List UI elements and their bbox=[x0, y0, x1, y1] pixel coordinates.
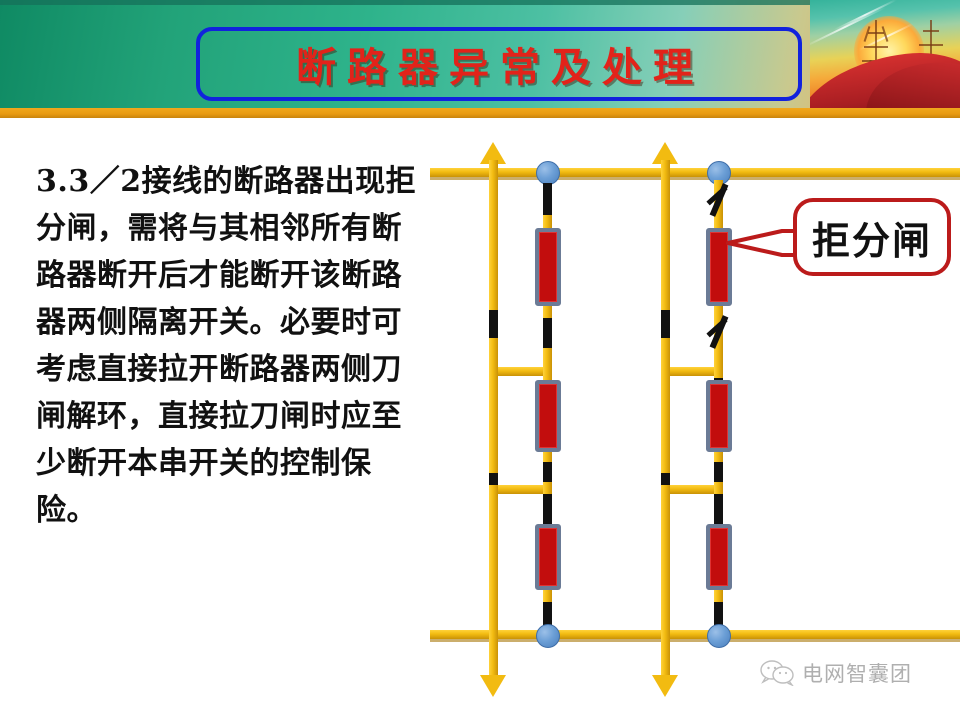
top-bus bbox=[430, 168, 960, 177]
bus-connection-node bbox=[536, 161, 560, 185]
bottom-bus bbox=[430, 630, 960, 639]
bus-connection-node bbox=[536, 624, 560, 648]
link-left-b3-bot bbox=[543, 590, 552, 602]
header-gold-stripe bbox=[0, 108, 960, 118]
bottom-bus-shadow bbox=[430, 639, 960, 642]
header-photo bbox=[810, 0, 960, 108]
callout-label: 拒分闸 bbox=[812, 210, 932, 265]
link-right-b3-bot bbox=[714, 590, 723, 602]
watermark: 电网智囊团 bbox=[760, 658, 912, 688]
open-disconnector-icon bbox=[705, 316, 731, 350]
feeder-line-left-bottom bbox=[489, 485, 498, 675]
bus-connection-node bbox=[707, 624, 731, 648]
feeder-line-right-mid2 bbox=[661, 367, 670, 473]
link-left-b1-top bbox=[543, 215, 552, 228]
circuit-breaker bbox=[706, 524, 732, 590]
disconnector-left-b3-top bbox=[543, 494, 552, 524]
circuit-breaker bbox=[535, 524, 561, 590]
link-right-tie-lower bbox=[714, 482, 723, 494]
open-disconnector-icon bbox=[705, 184, 731, 218]
link-left-b2-top bbox=[543, 370, 552, 380]
feeder-arrow-down-left bbox=[480, 675, 506, 697]
watermark-text: 电网智囊团 bbox=[802, 658, 912, 688]
top-bus-shadow bbox=[430, 177, 960, 180]
circuit-breaker bbox=[706, 380, 732, 452]
callout-tail bbox=[726, 228, 800, 258]
feeder-line-right-upper bbox=[661, 160, 670, 310]
disconnector-gap-left-upper bbox=[489, 310, 498, 338]
callout-bubble: 拒分闸 bbox=[793, 198, 951, 276]
feeder-line-left-mid2 bbox=[489, 367, 498, 473]
link-right-tie-upper bbox=[714, 354, 723, 378]
page-title: 断路器异常及处理 bbox=[200, 30, 800, 98]
feeder-line-left-upper bbox=[489, 160, 498, 310]
circuit-breaker bbox=[535, 380, 561, 452]
slide-root: 断路器异常及处理 3.3／2接线的断路器出现拒分闸，需将与其相邻所有断路器断开后… bbox=[0, 0, 960, 720]
body-paragraph: 3.3／2接线的断路器出现拒分闸，需将与其相邻所有断路器断开后才能断开该断路器两… bbox=[36, 158, 426, 534]
wechat-icon bbox=[760, 660, 794, 686]
link-left-b2-bot bbox=[543, 452, 552, 462]
feeder-line-right-bottom bbox=[661, 485, 670, 675]
disconnector-right-b3-top bbox=[714, 494, 723, 524]
circuit-breaker bbox=[535, 228, 561, 306]
disconnector-left-b1-bot bbox=[543, 318, 552, 348]
link-right-b2-bot bbox=[714, 452, 723, 462]
link-left-b1-bot bbox=[543, 306, 552, 318]
disconnector-gap-right-upper bbox=[661, 310, 670, 338]
feeder-arrow-down-right bbox=[652, 675, 678, 697]
disconnector-left-b1-top bbox=[543, 183, 552, 215]
link-left-tie-lower bbox=[543, 482, 552, 494]
